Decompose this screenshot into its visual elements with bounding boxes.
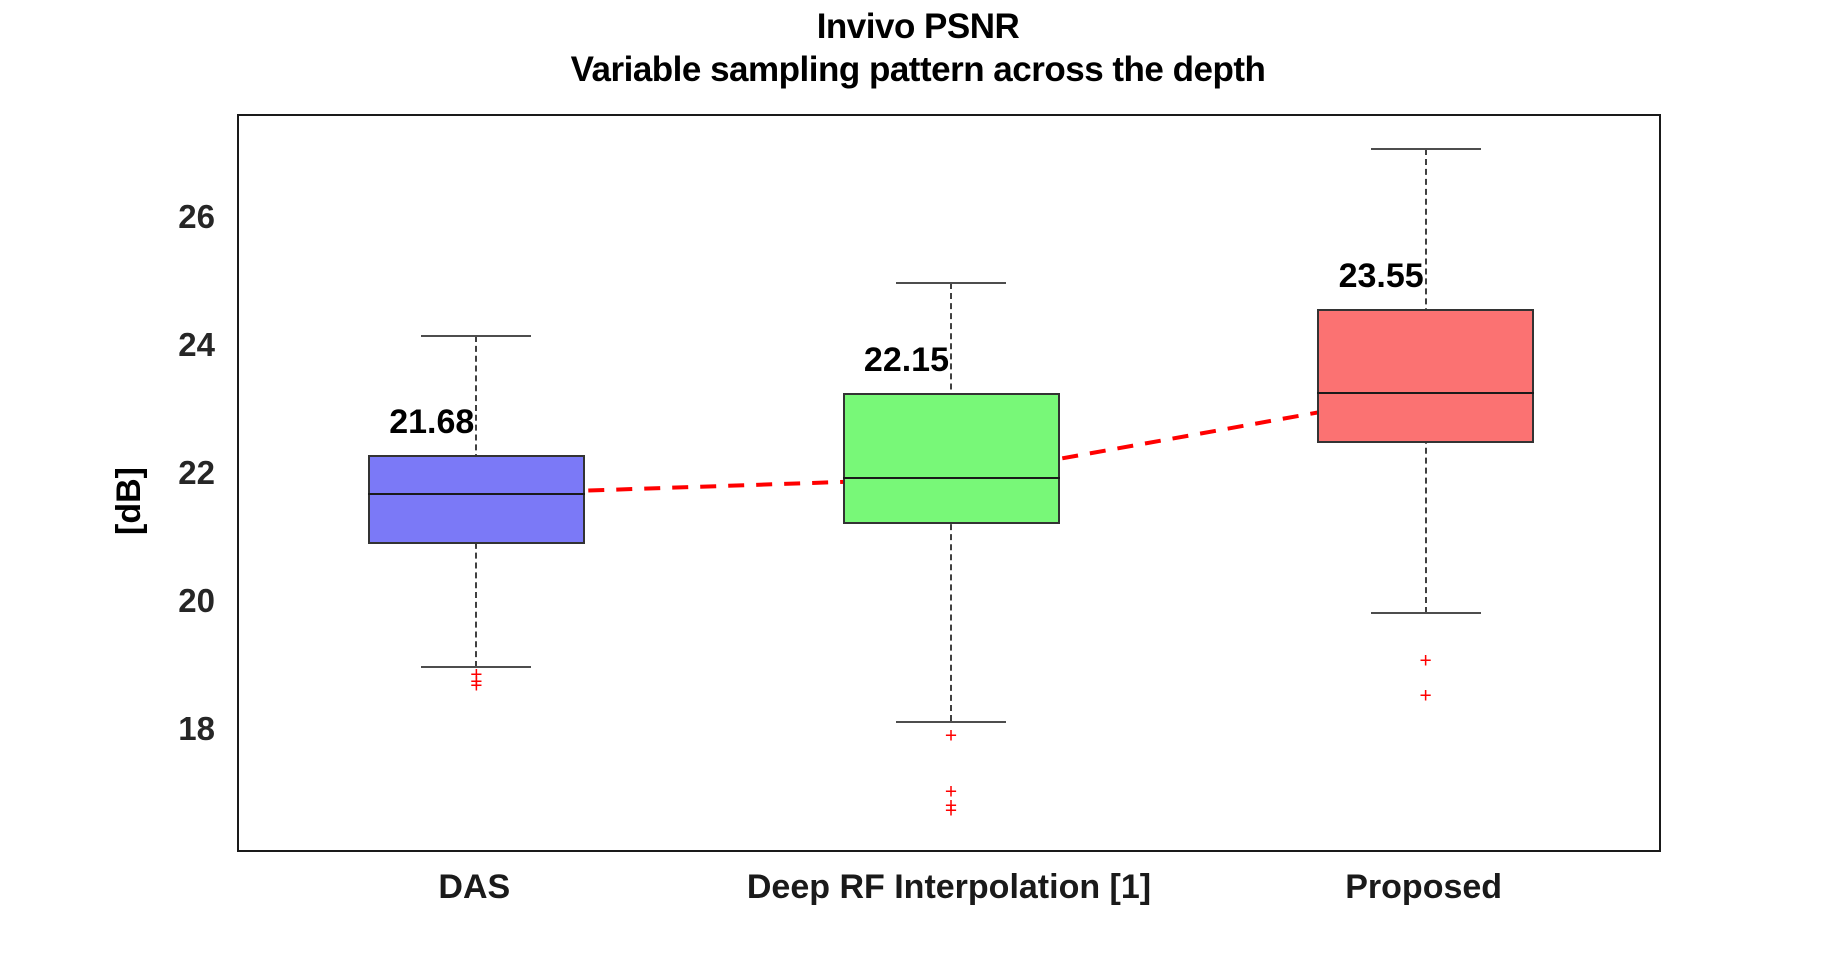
plot-frame: +++++++++: [237, 114, 1661, 852]
outlier-marker: +: [470, 675, 482, 696]
whisker-cap-upper: [421, 335, 531, 337]
chart-page: Invivo PSNR Variable sampling pattern ac…: [0, 0, 1836, 958]
box-value-label-das: 21.68: [244, 403, 474, 442]
outlier-marker: +: [945, 725, 957, 746]
title-line-1: Invivo PSNR: [0, 6, 1836, 48]
plot-area: +++++++++: [239, 116, 1659, 850]
y-tick-label-22: 22: [125, 454, 215, 492]
y-tick-label-20: 20: [125, 582, 215, 620]
whisker-cap-upper: [1371, 148, 1481, 150]
box-value-label-proposed: 23.55: [1194, 257, 1424, 296]
y-tick-label-26: 26: [125, 198, 215, 236]
whisker-cap-lower: [1371, 612, 1481, 614]
outlier-marker: +: [1420, 650, 1432, 671]
whisker-cap-upper: [896, 282, 1006, 284]
outlier-marker: +: [945, 801, 957, 822]
y-tick-label-24: 24: [125, 326, 215, 364]
box-proposed: [1317, 309, 1534, 443]
chart-title: Invivo PSNR Variable sampling pattern ac…: [0, 0, 1836, 92]
outlier-marker: +: [1420, 685, 1432, 706]
title-line-2: Variable sampling pattern across the dep…: [0, 48, 1836, 92]
median-line: [368, 493, 585, 495]
y-tick-label-18: 18: [125, 710, 215, 748]
box-das: [368, 455, 585, 543]
box-deep-rf-interpolation-1: [843, 393, 1060, 524]
whisker-cap-lower: [896, 721, 1006, 723]
x-tick-label-proposed: Proposed: [1024, 868, 1824, 907]
median-line: [843, 477, 1060, 479]
median-line: [1317, 392, 1534, 394]
box-value-label-deep-rf-interpolation-1: 22.15: [719, 341, 949, 380]
